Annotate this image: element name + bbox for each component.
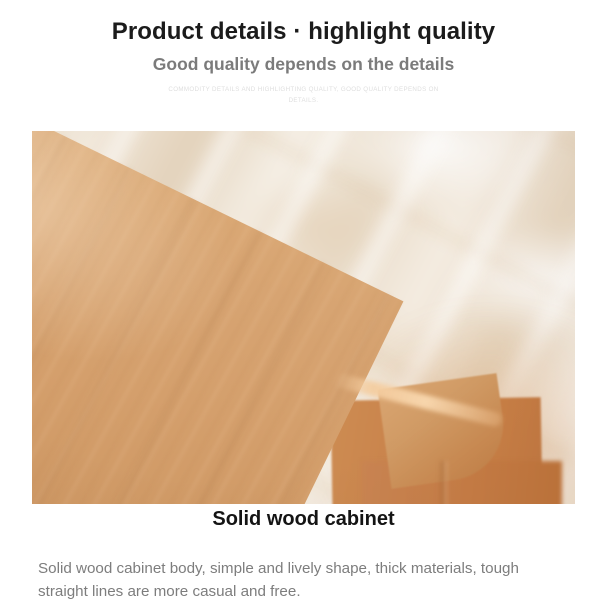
header-block: Product details · highlight quality Good… xyxy=(0,0,607,106)
product-photo xyxy=(32,131,575,504)
product-detail-page: Product details · highlight quality Good… xyxy=(0,0,607,607)
header-small-caption: COMMODITY DETAILS AND HIGHLIGHTING QUALI… xyxy=(154,75,454,106)
product-description: Solid wood cabinet body, simple and live… xyxy=(38,557,550,603)
page-subtitle: Good quality depends on the details xyxy=(0,46,607,75)
product-photo-canvas xyxy=(32,131,575,504)
cabinet-vertical-seam xyxy=(439,461,448,504)
product-name-heading: Solid wood cabinet xyxy=(0,506,607,532)
page-title: Product details · highlight quality xyxy=(0,0,607,46)
